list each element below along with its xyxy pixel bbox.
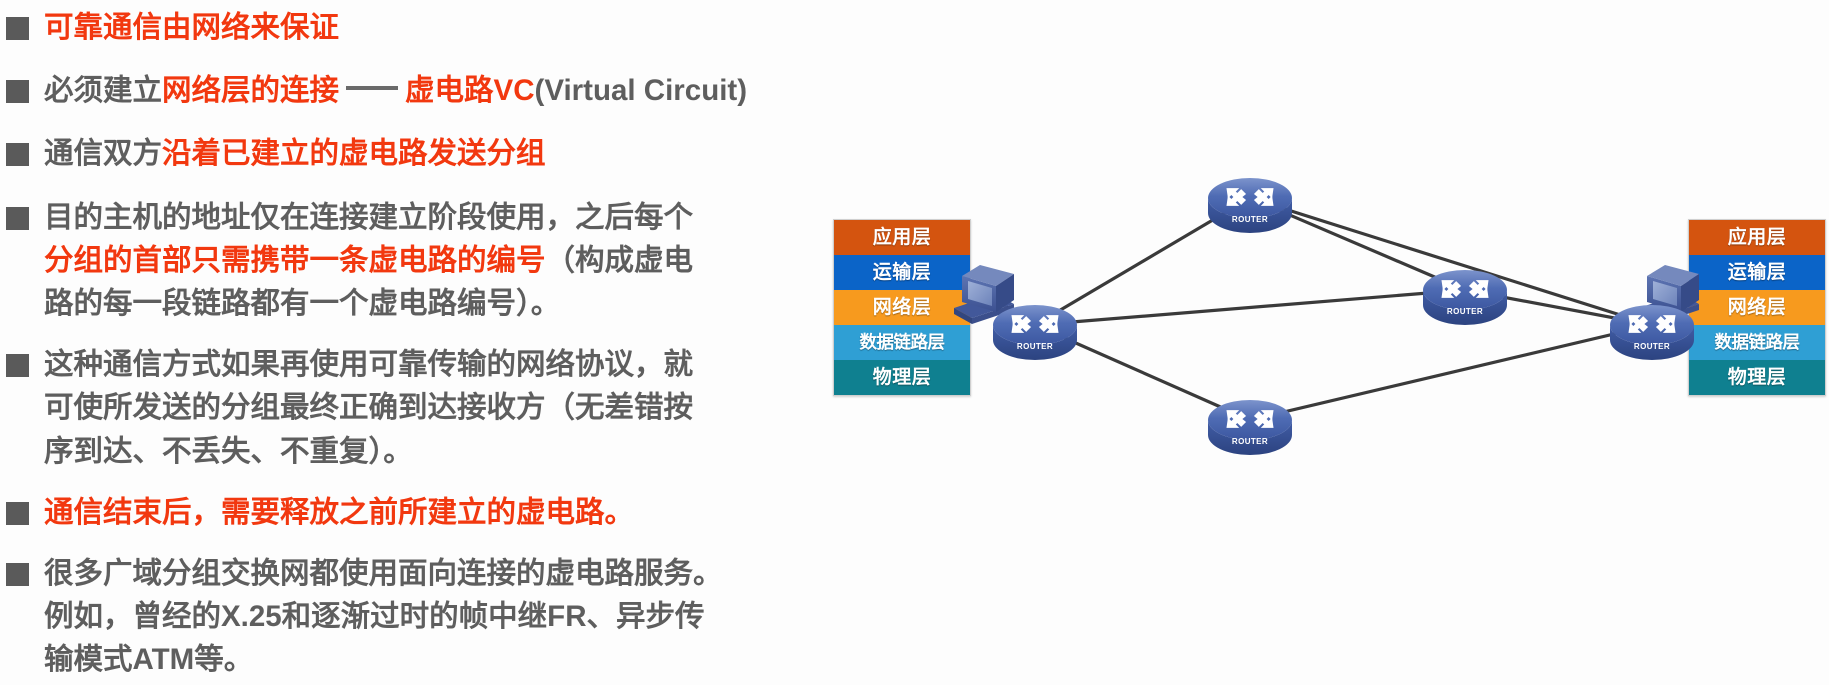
bullet-marker-icon [6, 207, 29, 230]
bullet-wan-examples: 很多广域分组交换网都使用面向连接的虚电路服务。例如，曾经的X.25和逐渐过时的帧… [6, 552, 830, 682]
bullet-list: 可靠通信由网络来保证必须建立网络层的连接虚电路VC(Virtual Circui… [0, 0, 830, 685]
bullet-line: 通信结束后，需要释放之前所建立的虚电路。 [44, 491, 830, 534]
network-topology-svg: ROUTERROUTERROUTERROUTERROUTER [820, 0, 1829, 685]
bullet-line: 这种通信方式如果再使用可靠传输的网络协议，就 [44, 343, 830, 386]
router-node-router-left: ROUTER [993, 305, 1077, 360]
bullet-marker-icon [6, 354, 29, 377]
text-run: 输模式ATM等。 [44, 643, 253, 676]
bullet-line: 例如，曾经的X.25和逐渐过时的帧中继FR、异步传 [44, 595, 830, 638]
text-run: 通信结束后，需要释放之前所建立的虚电路。 [44, 496, 634, 529]
text-run: 例如，曾经的X.25和逐渐过时的帧中继FR、异步传 [44, 600, 705, 633]
bullet-marker-icon [6, 80, 29, 103]
router-node-router-bottom: ROUTER [1208, 400, 1292, 455]
text-run: 虚电路VC [405, 74, 534, 107]
bullet-marker-icon [6, 17, 29, 40]
bullet-line: 序到达、不丢失、不重复）。 [44, 430, 830, 473]
network-links [980, 198, 1665, 420]
text-run: 很多广域分组交换网都使用面向连接的虚电路服务。 [44, 557, 723, 590]
bullet-line: 很多广域分组交换网都使用面向连接的虚电路服务。 [44, 552, 830, 595]
bullet-text: 目的主机的地址仅在连接建立阶段使用，之后每个分组的首部只需携带一条虚电路的编号（… [44, 196, 830, 326]
bullet-marker-icon [6, 502, 29, 525]
bullet-text: 很多广域分组交换网都使用面向连接的虚电路服务。例如，曾经的X.25和逐渐过时的帧… [44, 552, 830, 682]
router-caption: ROUTER [1232, 215, 1268, 224]
bullet-must-establish-vc: 必须建立网络层的连接虚电路VC(Virtual Circuit) [6, 69, 830, 112]
bullet-send-along-vc: 通信双方沿着已建立的虚电路发送分组 [6, 132, 830, 175]
bullet-line: 输模式ATM等。 [44, 638, 830, 681]
slide-root: 可靠通信由网络来保证必须建立网络层的连接虚电路VC(Virtual Circui… [0, 0, 1829, 685]
bullet-line: 可使所发送的分组最终正确到达接收方（无差错按 [44, 386, 830, 429]
bullet-dest-address-usage: 目的主机的地址仅在连接建立阶段使用，之后每个分组的首部只需携带一条虚电路的编号（… [6, 196, 830, 326]
bullet-text: 通信双方沿着已建立的虚电路发送分组 [44, 132, 830, 175]
em-dash-rule [346, 86, 398, 90]
text-run: 网络层的连接 [162, 74, 339, 107]
router-caption: ROUTER [1232, 437, 1268, 446]
network-nodes: ROUTERROUTERROUTERROUTERROUTER [954, 178, 1699, 455]
bullet-line: 路的每一段链路都有一个虚电路编号）。 [44, 282, 830, 325]
network-link-router-left-to-router-center [1035, 290, 1465, 325]
text-run: 这种通信方式如果再使用可靠传输的网络协议，就 [44, 348, 693, 381]
bullet-marker-icon [6, 143, 29, 166]
network-link-router-bottom-to-router-right [1250, 325, 1652, 420]
text-run: 通信双方 [44, 137, 162, 170]
text-run: 分组的首部只需携带一条虚电路的编号 [44, 244, 546, 277]
router-node-router-center: ROUTER [1423, 270, 1507, 325]
text-run: 路的每一段链路都有一个虚电路编号）。 [44, 287, 560, 320]
bullet-line: 分组的首部只需携带一条虚电路的编号（构成虚电 [44, 239, 830, 282]
bullet-reliable-comm: 可靠通信由网络来保证 [6, 6, 830, 49]
bullet-text: 必须建立网络层的连接虚电路VC(Virtual Circuit) [44, 69, 830, 112]
router-caption: ROUTER [1634, 342, 1670, 351]
text-run: 可靠通信由网络来保证 [44, 11, 339, 44]
bullet-release-vc-after: 通信结束后，需要释放之前所建立的虚电路。 [6, 491, 830, 534]
router-node-router-top: ROUTER [1208, 178, 1292, 233]
bullet-marker-icon [6, 563, 29, 586]
text-run: (Virtual Circuit) [535, 74, 748, 107]
bullet-reliable-transport-protocol: 这种通信方式如果再使用可靠传输的网络协议，就可使所发送的分组最终正确到达接收方（… [6, 343, 830, 473]
text-run: 必须建立 [44, 74, 162, 107]
bullet-text: 通信结束后，需要释放之前所建立的虚电路。 [44, 491, 830, 534]
text-run: （构成虚电 [546, 244, 694, 277]
bullet-line: 可靠通信由网络来保证 [44, 6, 830, 49]
bullet-text: 可靠通信由网络来保证 [44, 6, 830, 49]
bullet-text: 这种通信方式如果再使用可靠传输的网络协议，就可使所发送的分组最终正确到达接收方（… [44, 343, 830, 473]
text-run: 目的主机的地址仅在连接建立阶段使用，之后每个 [44, 201, 693, 234]
bullet-line: 目的主机的地址仅在连接建立阶段使用，之后每个 [44, 196, 830, 239]
text-run: 沿着已建立的虚电路发送分组 [162, 137, 546, 170]
router-caption: ROUTER [1447, 307, 1483, 316]
bullet-line: 必须建立网络层的连接虚电路VC(Virtual Circuit) [44, 69, 830, 112]
text-run: 序到达、不丢失、不重复）。 [44, 435, 413, 468]
network-diagram: 应用层运输层网络层数据链路层物理层 应用层运输层网络层数据链路层物理层 [820, 0, 1829, 685]
router-caption: ROUTER [1017, 342, 1053, 351]
bullet-line: 通信双方沿着已建立的虚电路发送分组 [44, 132, 830, 175]
text-run: 可使所发送的分组最终正确到达接收方（无差错按 [44, 391, 693, 424]
router-node-router-right: ROUTER [1610, 305, 1694, 360]
